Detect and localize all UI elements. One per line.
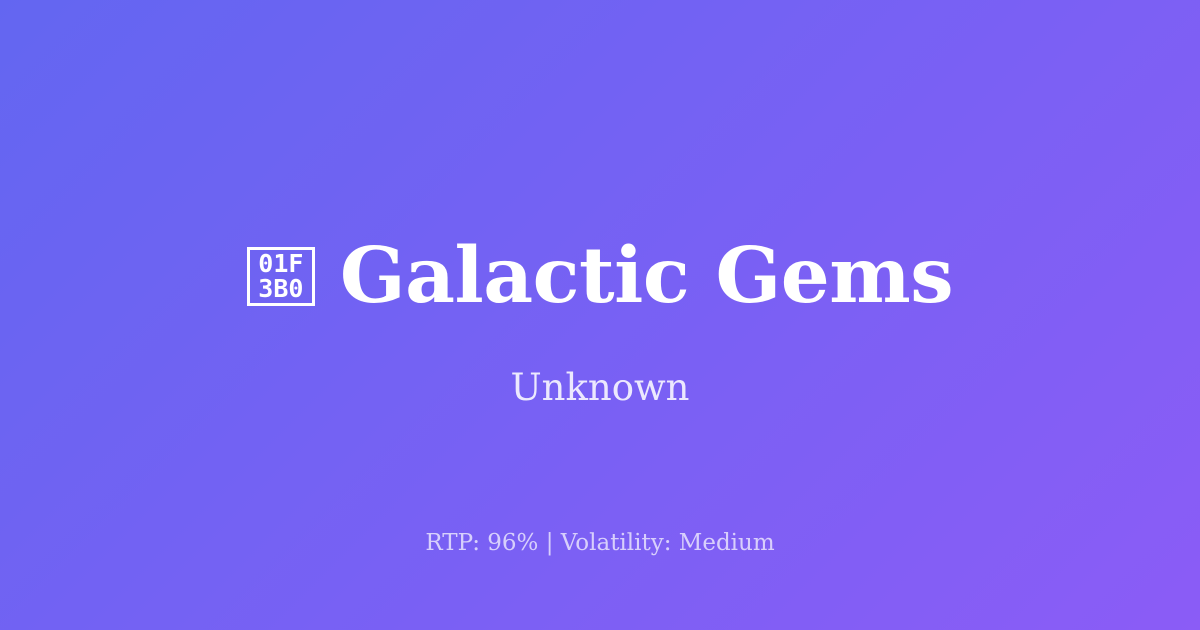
game-title: Galactic Gems bbox=[340, 224, 953, 328]
tofu-codepoint-row-bottom: 3B0 bbox=[258, 276, 303, 301]
slot-machine-emoji-tofu-icon: 01F 3B0 bbox=[247, 247, 315, 306]
title-row: 01F 3B0 Galactic Gems bbox=[0, 224, 1200, 328]
game-subtitle: Unknown bbox=[0, 366, 1200, 410]
tofu-codepoint-row-top: 01F bbox=[258, 251, 303, 276]
og-share-card: 01F 3B0 Galactic Gems Unknown RTP: 96% |… bbox=[0, 0, 1200, 630]
game-meta-line: RTP: 96% | Volatility: Medium bbox=[0, 528, 1200, 558]
